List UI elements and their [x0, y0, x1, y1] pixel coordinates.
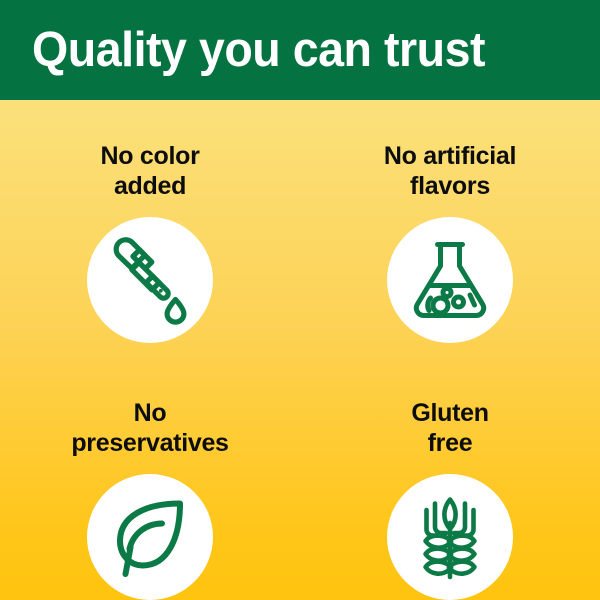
page-title: Quality you can trust: [32, 26, 485, 75]
feature-label: No preservatives: [71, 399, 228, 458]
icon-circle: [387, 474, 513, 600]
header-banner: Quality you can trust: [0, 0, 600, 100]
leaf-icon: [102, 489, 198, 585]
feature-label: No artificial flavors: [384, 142, 516, 201]
feature-item-no-color-added: No color added: [0, 100, 300, 349]
quality-infographic: Quality you can trust No color added: [0, 0, 600, 600]
icon-circle: [87, 474, 213, 600]
icon-circle: [387, 217, 513, 343]
feature-item-no-preservatives: No preservatives: [0, 349, 300, 600]
icon-circle: [87, 217, 213, 343]
flask-icon: [402, 232, 498, 328]
dropper-icon: [102, 232, 198, 328]
feature-label: Gluten free: [411, 399, 488, 458]
feature-item-gluten-free: Gluten free: [300, 349, 600, 600]
feature-label: No color added: [101, 142, 200, 201]
feature-grid: No color added: [0, 100, 600, 600]
feature-item-no-artificial-flavors: No artificial flavors: [300, 100, 600, 349]
wheat-icon: [402, 489, 498, 585]
